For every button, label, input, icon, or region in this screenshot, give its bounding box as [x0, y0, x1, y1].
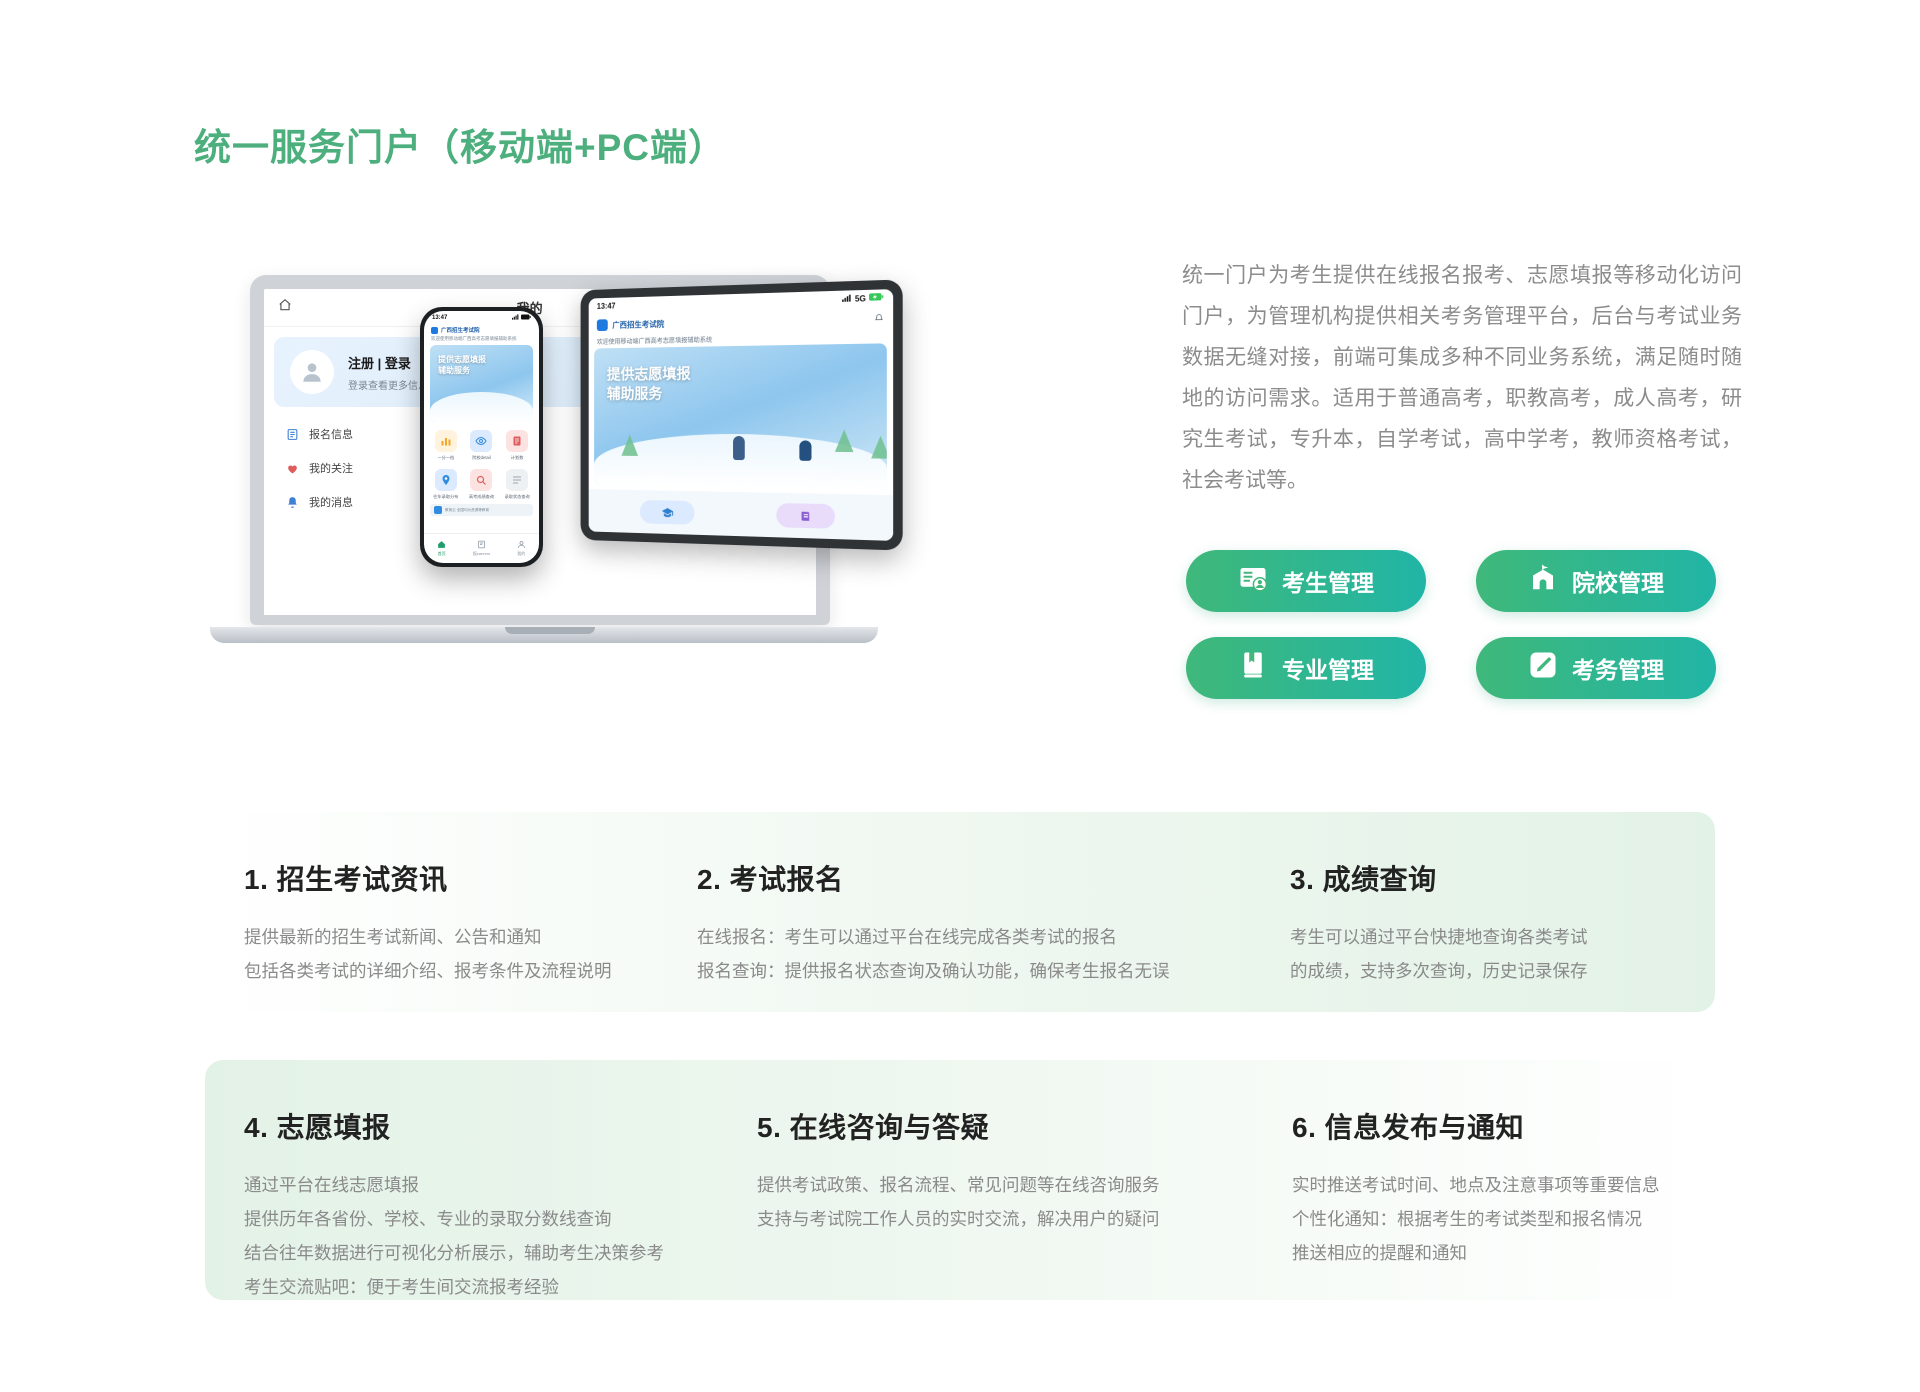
banner-hill-shape: [430, 392, 533, 423]
phone-tab-apply[interactable]: 报careers: [473, 540, 490, 557]
phone-grid-label: 计划数: [511, 455, 524, 461]
list-icon: [506, 469, 528, 491]
button-label: 专业管理: [1282, 651, 1374, 685]
device-mockup-group: 我的 ••• 注册 | 登录 登录查看更多信息: [170, 255, 1110, 715]
phone-status-time: 13:47: [432, 315, 447, 321]
feature-card-5: 5. 在线咨询与答疑 提供考试政策、报名流程、常见问题等在线咨询服务 支持与考试…: [745, 1060, 1280, 1300]
battery-icon: [869, 292, 884, 303]
feature-heading: 3. 成绩查询: [1290, 858, 1715, 898]
button-exam-affairs-management[interactable]: 考务管理: [1476, 637, 1716, 699]
phone-tab-label: 报careers: [473, 551, 490, 557]
button-major-management[interactable]: 专业管理: [1186, 637, 1426, 699]
feature-heading: 2. 考试报名: [697, 858, 1275, 898]
bell-icon[interactable]: [874, 309, 883, 328]
feature-line: 支持与考试院工作人员的实时交流，解决用户的疑问: [757, 1202, 1280, 1236]
phone-tab-label: 首页: [438, 551, 446, 557]
button-label: 考生管理: [1282, 564, 1374, 598]
tablet-dock: [589, 489, 893, 541]
app-logo-icon: [431, 327, 438, 334]
doc-icon: [506, 430, 528, 452]
phone-screen: 13:47 广西招生考试院 欢迎使用移动端广西高考志愿填报辅助系统 提供志愿填报: [424, 311, 539, 563]
phone-feature-grid: 一分一档 院校detail 计划数: [430, 430, 533, 500]
feature-line: 通过平台在线志愿填报: [244, 1168, 745, 1202]
feature-heading: 4. 志愿填报: [244, 1106, 745, 1146]
feature-line: 报名查询：提供报名状态查询及确认功能，确保考生报名无误: [697, 954, 1275, 988]
phone-banner-line1: 提供志愿填报: [438, 354, 486, 365]
phone-grid-item[interactable]: 一分一档: [430, 430, 462, 461]
phone-welcome-text: 欢迎使用移动端广西高考志愿填报辅助系统: [424, 336, 539, 345]
laptop-menu-label: 我的关注: [309, 460, 353, 476]
avatar: [290, 350, 334, 394]
bell-icon: [286, 496, 299, 509]
phone-status-bar: 13:47: [424, 311, 539, 324]
phone-banner: 提供志愿填报 辅助服务: [430, 345, 533, 423]
feature-heading: 1. 招生考试资讯: [244, 858, 685, 898]
phone-grid-item[interactable]: 高考成绩查询: [466, 469, 498, 500]
tree-icon: [871, 435, 887, 458]
feature-line: 提供历年各省份、学校、专业的录取分数线查询: [244, 1202, 745, 1236]
app-logo-icon: [597, 319, 608, 331]
feature-card-2: 2. 考试报名 在线报名：考生可以通过平台在线完成各类考试的报名 报名查询：提供…: [685, 812, 1275, 1012]
person-figure: [733, 436, 745, 460]
id-card-person-icon: [1238, 563, 1268, 599]
feature-line: 结合往年数据进行可视化分析展示，辅助考生决策参考: [244, 1236, 745, 1270]
laptop-menu-label: 我的消息: [309, 494, 353, 510]
tablet-mockup: 13:47 5G 广西招生考试院 欢迎使用移动端广西高考志: [581, 279, 903, 550]
book-icon: [1238, 650, 1268, 686]
ad-logo-icon: [434, 506, 442, 514]
button-label: 院校管理: [1572, 564, 1664, 598]
person-figure: [799, 440, 811, 460]
feature-line: 包括各类考试的详细介绍、报考条件及流程说明: [244, 954, 685, 988]
phone-banner-line2: 辅助服务: [438, 365, 486, 376]
laptop-menu-label: 报名信息: [309, 426, 353, 442]
portal-description: 统一门户为考生提供在线报名报考、志愿填报等移动化访问门户，为管理机构提供相关考务…: [1182, 256, 1742, 502]
feature-heading: 5. 在线咨询与答疑: [757, 1106, 1280, 1146]
tablet-dock-item-1[interactable]: [640, 500, 695, 525]
page-title: 统一服务门户（移动端+PC端）: [194, 117, 726, 171]
feature-line: 个性化通知：根据考生的考试类型和报名情况: [1292, 1202, 1715, 1236]
signal-icon: [512, 314, 519, 322]
pin-icon: [435, 469, 457, 491]
phone-grid-label: 录取状态查询: [505, 494, 530, 500]
phone-app-name: 广西招生考试院: [441, 326, 480, 334]
tree-icon: [835, 429, 854, 452]
phone-grid-item[interactable]: 计划数: [501, 430, 533, 461]
feature-line: 考生可以通过平台快捷地查询各类考试: [1290, 920, 1715, 954]
feature-band-bottom: 4. 志愿填报 通过平台在线志愿填报 提供历年各省份、学校、专业的录取分数线查询…: [205, 1060, 1715, 1300]
tablet-banner: 提供志愿填报 辅助服务: [594, 343, 887, 491]
tablet-banner-line2: 辅助服务: [607, 385, 691, 405]
feature-line: 的成绩，支持多次查询，历史记录保存: [1290, 954, 1715, 988]
phone-grid-label: 高考成绩查询: [469, 494, 494, 500]
phone-grid-label: 院校detail: [472, 455, 490, 461]
form-icon: [286, 428, 299, 441]
button-institution-management[interactable]: 院校管理: [1476, 550, 1716, 612]
battery-icon: [521, 314, 531, 322]
feature-line: 提供最新的招生考试新闻、公告和通知: [244, 920, 685, 954]
phone-ad-text: 教育云 全国均为资源等教育: [445, 508, 489, 513]
school-building-icon: [1528, 563, 1558, 599]
tablet-screen: 13:47 5G 广西招生考试院 欢迎使用移动端广西高考志: [589, 289, 893, 541]
phone-grid-label: 往年录取分布: [433, 494, 458, 500]
phone-tab-mine[interactable]: 我的: [517, 540, 526, 557]
feature-card-6: 6. 信息发布与通知 实时推送考试时间、地点及注意事项等重要信息 个性化通知：根…: [1280, 1060, 1715, 1300]
phone-ad-banner[interactable]: 教育云 全国均为资源等教育: [430, 504, 533, 516]
feature-card-4: 4. 志愿填报 通过平台在线志愿填报 提供历年各省份、学校、专业的录取分数线查询…: [205, 1060, 745, 1300]
search-icon: [470, 469, 492, 491]
phone-grid-item[interactable]: 往年录取分布: [430, 469, 462, 500]
action-button-grid: 考生管理 院校管理 专业管理 考务管理: [1186, 550, 1716, 699]
feature-line: 实时推送考试时间、地点及注意事项等重要信息: [1292, 1168, 1715, 1202]
tablet-status-network: 5G: [855, 294, 866, 304]
tablet-banner-line1: 提供志愿填报: [607, 365, 691, 386]
button-candidate-management[interactable]: 考生管理: [1186, 550, 1426, 612]
register-login-link[interactable]: 注册 | 登录: [348, 353, 428, 372]
feature-line: 考生交流贴吧：便于考生间交流报考经验: [244, 1270, 745, 1304]
heart-icon: [286, 462, 299, 475]
phone-app-header: 广西招生考试院: [424, 324, 539, 336]
tree-icon: [621, 434, 638, 456]
tablet-status-time: 13:47: [597, 301, 616, 310]
phone-grid-label: 一分一档: [437, 455, 454, 461]
tablet-dock-item-2[interactable]: [776, 503, 835, 529]
signal-icon: [842, 294, 851, 304]
pencil-edit-icon: [1528, 650, 1558, 686]
button-label: 考务管理: [1572, 651, 1664, 685]
eye-icon: [470, 430, 492, 452]
phone-grid-item[interactable]: 录取状态查询: [501, 469, 533, 500]
feature-card-1: 1. 招生考试资讯 提供最新的招生考试新闻、公告和通知 包括各类考试的详细介绍、…: [205, 812, 685, 1012]
phone-mockup: 13:47 广西招生考试院 欢迎使用移动端广西高考志愿填报辅助系统 提供志愿填报: [420, 307, 543, 567]
home-icon: [278, 298, 292, 317]
phone-grid-item[interactable]: 院校detail: [466, 430, 498, 461]
laptop-notch: [505, 627, 595, 634]
tablet-app-name: 广西招生考试院: [612, 318, 664, 330]
phone-tab-label: 我的: [517, 551, 525, 557]
feature-line: 推送相应的提醒和通知: [1292, 1236, 1715, 1270]
feature-heading: 6. 信息发布与通知: [1292, 1106, 1715, 1146]
phone-tab-home[interactable]: 首页: [437, 540, 446, 557]
feature-card-3: 3. 成绩查询 考生可以通过平台快捷地查询各类考试 的成绩，支持多次查询，历史记…: [1275, 812, 1715, 1012]
feature-line: 在线报名：考生可以通过平台在线完成各类考试的报名: [697, 920, 1275, 954]
chart-icon: [435, 430, 457, 452]
register-login-subtitle: 登录查看更多信息: [348, 377, 428, 392]
phone-tab-bar: 首页 报careers 我的: [424, 533, 539, 563]
feature-line: 提供考试政策、报名流程、常见问题等在线咨询服务: [757, 1168, 1280, 1202]
feature-band-top: 1. 招生考试资讯 提供最新的招生考试新闻、公告和通知 包括各类考试的详细介绍、…: [205, 812, 1715, 1012]
